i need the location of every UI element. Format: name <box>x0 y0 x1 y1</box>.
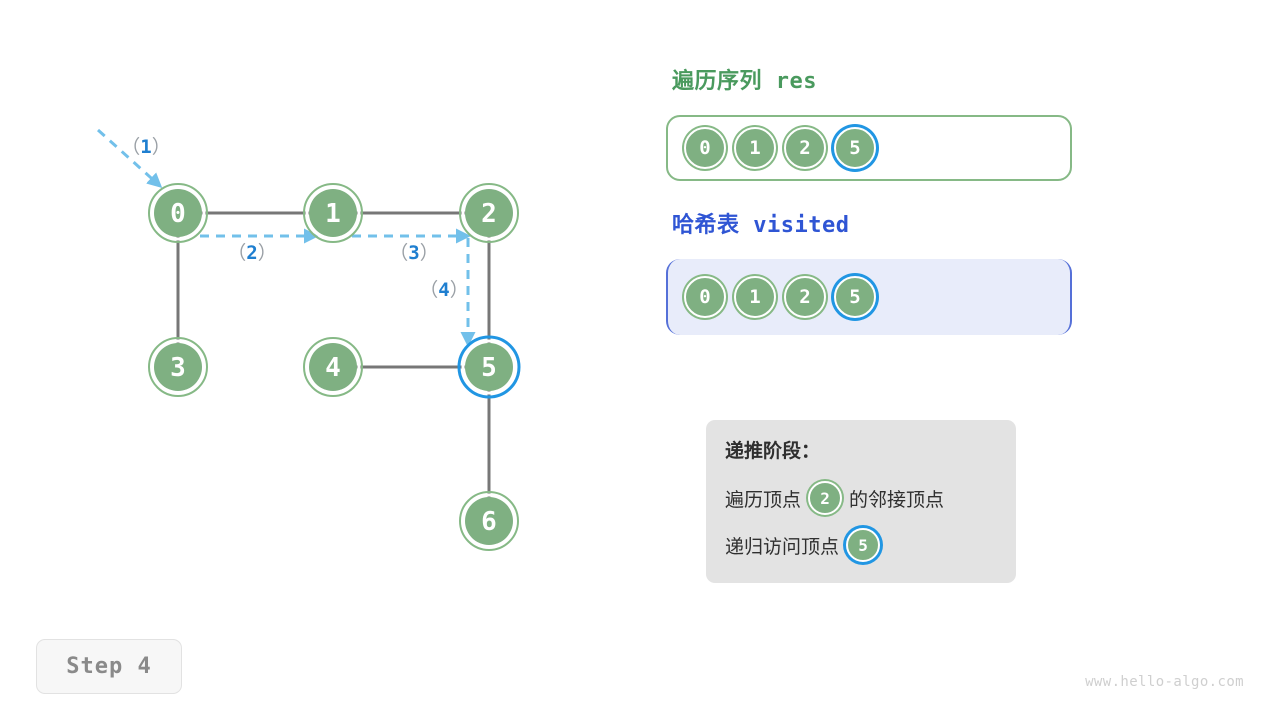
visited-token: 5 <box>834 276 876 318</box>
visited-container: 0125 <box>666 259 1072 335</box>
node-label: 6 <box>481 507 497 537</box>
node-label: 3 <box>170 353 186 383</box>
step-badge: Step 4 <box>36 639 182 694</box>
description-line-1-token: 2 <box>808 481 842 515</box>
traversal-arrows <box>98 130 468 344</box>
res-title: 遍历序列 res <box>672 63 817 95</box>
node-label: 5 <box>481 353 497 383</box>
node-label: 2 <box>481 199 497 229</box>
traversal-order-label: （1） <box>121 136 170 158</box>
right-panel: 遍历序列 res 0125 哈希表 visited 0125 递推阶段： 遍历顶… <box>640 0 1280 720</box>
res-token-row: 0125 <box>684 117 876 179</box>
description-box: 递推阶段： 遍历顶点 2 的邻接顶点 递归访问顶点 5 <box>706 420 1016 583</box>
node-label: 0 <box>170 199 186 229</box>
graph-nodes: 0123456 <box>149 184 519 550</box>
visited-token: 2 <box>784 276 826 318</box>
description-line-1-prefix: 遍历顶点 <box>725 485 801 512</box>
visited-token-row: 0125 <box>684 259 876 335</box>
node-label: 4 <box>325 353 341 383</box>
graph-node: 4 <box>304 338 362 396</box>
description-line-1-suffix: 的邻接顶点 <box>849 485 944 512</box>
res-token: 0 <box>684 127 726 169</box>
res-token: 5 <box>834 127 876 169</box>
graph-node: 3 <box>149 338 207 396</box>
description-line-1: 遍历顶点 2 的邻接顶点 <box>725 481 1016 515</box>
node-label: 1 <box>325 199 341 229</box>
graph-node: 0 <box>149 184 207 242</box>
description-line-2-token: 5 <box>846 528 880 562</box>
description-line-2-prefix: 递归访问顶点 <box>725 532 839 559</box>
visited-token: 1 <box>734 276 776 318</box>
res-container: 0125 <box>666 115 1072 181</box>
graph-node: 5 <box>459 337 519 397</box>
graph-panel: 0123456 （1）（2）（3）（4） <box>0 0 640 720</box>
traversal-order-label: （4） <box>419 279 468 301</box>
graph-node: 6 <box>460 492 518 550</box>
visited-title: 哈希表 visited <box>672 207 849 239</box>
watermark: www.hello-algo.com <box>1085 674 1244 690</box>
traversal-order-label: （3） <box>389 242 438 264</box>
res-token: 2 <box>784 127 826 169</box>
graph-node: 2 <box>460 184 518 242</box>
traversal-order-label: （2） <box>227 242 276 264</box>
res-token: 1 <box>734 127 776 169</box>
description-heading: 递推阶段： <box>725 442 1016 461</box>
graph-canvas: 0123456 （1）（2）（3）（4） <box>0 0 640 720</box>
description-line-2: 递归访问顶点 5 <box>725 528 1016 562</box>
visited-token: 0 <box>684 276 726 318</box>
graph-node: 1 <box>304 184 362 242</box>
